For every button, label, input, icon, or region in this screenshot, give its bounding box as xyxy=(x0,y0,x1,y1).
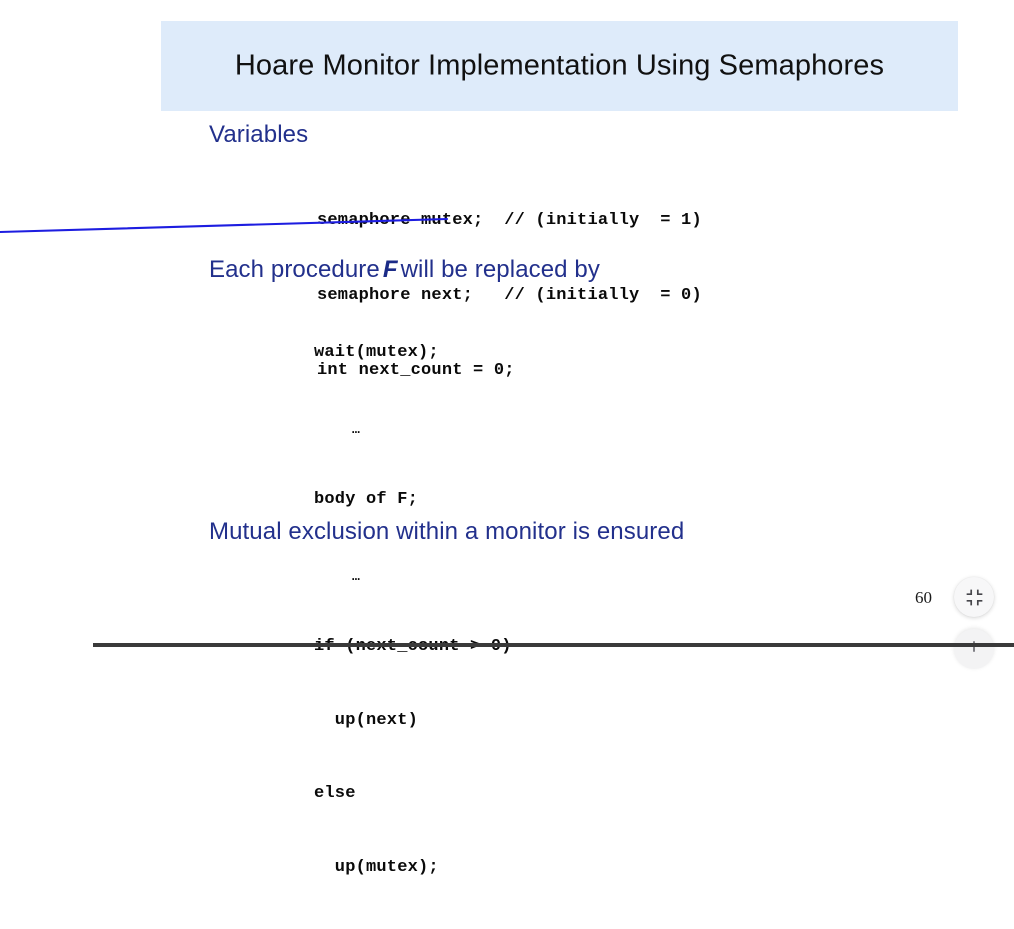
heading-text-after: will be replaced by xyxy=(401,256,600,283)
heading-text-before: Each procedure xyxy=(209,256,380,283)
slide-canvas: Hoare Monitor Implementation Using Semap… xyxy=(0,0,1014,652)
page-title: Hoare Monitor Implementation Using Semap… xyxy=(161,50,958,83)
collapse-inward-icon xyxy=(966,589,983,606)
page-number: 60 xyxy=(915,588,932,608)
code-line: if (next_count > 0) xyxy=(314,635,512,660)
code-line: else xyxy=(314,782,512,807)
code-line: up(next) xyxy=(314,709,512,734)
code-ellipsis: … xyxy=(314,415,512,440)
section-heading-variables: Variables xyxy=(209,121,308,149)
code-line: wait(mutex); xyxy=(314,341,512,366)
code-block-procedure: wait(mutex); … body of F; … if (next_cou… xyxy=(314,292,512,929)
collapse-fullscreen-button[interactable] xyxy=(954,577,994,617)
scroll-handle-button[interactable] xyxy=(954,629,994,669)
code-line: semaphore mutex; // (initially = 1) xyxy=(317,208,702,233)
title-banner: Hoare Monitor Implementation Using Semap… xyxy=(161,21,958,111)
code-line: body of F; xyxy=(314,488,512,513)
procedure-variable-f: F xyxy=(380,256,401,283)
section-heading-conclusion: Mutual exclusion within a monitor is ens… xyxy=(209,518,684,546)
bottom-scrollbar[interactable] xyxy=(93,643,1014,647)
code-ellipsis: … xyxy=(314,562,512,587)
code-line: up(mutex); xyxy=(314,856,512,881)
section-heading-each-procedure: Each procedureFwill be replaced by xyxy=(209,256,600,284)
